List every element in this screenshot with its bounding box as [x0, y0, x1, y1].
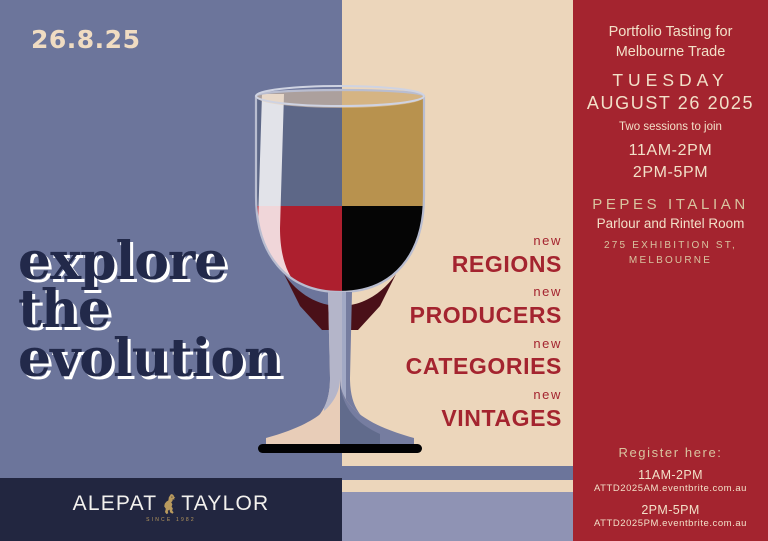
feature-item: new PRODUCERS — [380, 283, 562, 328]
venue-name: PEPES ITALIAN — [573, 196, 768, 213]
poster-canvas: ALEPAT TAYLOR SINCE 1982 26.8.25 explore… — [0, 0, 768, 541]
brand-logo: ALEPAT TAYLOR SINCE 1982 — [0, 492, 342, 523]
band-cream — [342, 480, 573, 492]
feature-prefix: new — [380, 232, 562, 251]
feature-prefix: new — [380, 283, 562, 302]
lion-icon — [159, 492, 179, 516]
venue-address: 275 EXHIBITION ST, MELBOURNE — [573, 238, 768, 268]
band-periwinkle — [342, 492, 573, 541]
address-line-1: 275 EXHIBITION ST, — [573, 238, 768, 253]
register-pm-link[interactable]: ATTD2025PM.eventbrite.com.au — [573, 518, 768, 529]
address-line-2: MELBOURNE — [573, 253, 768, 268]
event-day: TUESDAY — [573, 70, 768, 91]
feature-item: new VINTAGES — [380, 386, 562, 431]
event-date: AUGUST 26 2025 — [573, 93, 768, 115]
feature-item: new REGIONS — [380, 232, 562, 277]
event-title-line-1: Portfolio Tasting for — [573, 22, 768, 42]
feature-word: VINTAGES — [380, 405, 562, 431]
session-time-1: 11AM-2PM — [573, 140, 768, 162]
session-time-2: 2PM-5PM — [573, 162, 768, 184]
feature-item: new CATEGORIES — [380, 335, 562, 380]
register-am-link[interactable]: ATTD2025AM.eventbrite.com.au — [573, 483, 768, 494]
feature-prefix: new — [380, 386, 562, 405]
register-heading: Register here: — [573, 445, 768, 460]
features-list: new REGIONS new PRODUCERS new CATEGORIES… — [380, 232, 562, 437]
session-times: 11AM-2PM 2PM-5PM — [573, 140, 768, 183]
date-badge: 26.8.25 — [31, 25, 140, 54]
page-title: explore the evolution — [18, 238, 338, 383]
venue-room: Parlour and Rintel Room — [573, 216, 768, 231]
register-pm-time: 2PM-5PM — [573, 503, 768, 517]
logo-word-right: TAYLOR — [181, 492, 269, 516]
feature-word: CATEGORIES — [380, 353, 562, 379]
logo-tagline: SINCE 1982 — [0, 517, 342, 523]
register-am-time: 11AM-2PM — [573, 468, 768, 482]
feature-word: REGIONS — [380, 251, 562, 277]
feature-word: PRODUCERS — [380, 302, 562, 328]
event-title: Portfolio Tasting for Melbourne Trade — [573, 22, 768, 62]
sessions-note: Two sessions to join — [573, 121, 768, 133]
headline-line-3: evolution — [18, 335, 338, 383]
event-title-line-2: Melbourne Trade — [573, 42, 768, 62]
logo-word-left: ALEPAT — [73, 492, 158, 516]
feature-prefix: new — [380, 335, 562, 354]
